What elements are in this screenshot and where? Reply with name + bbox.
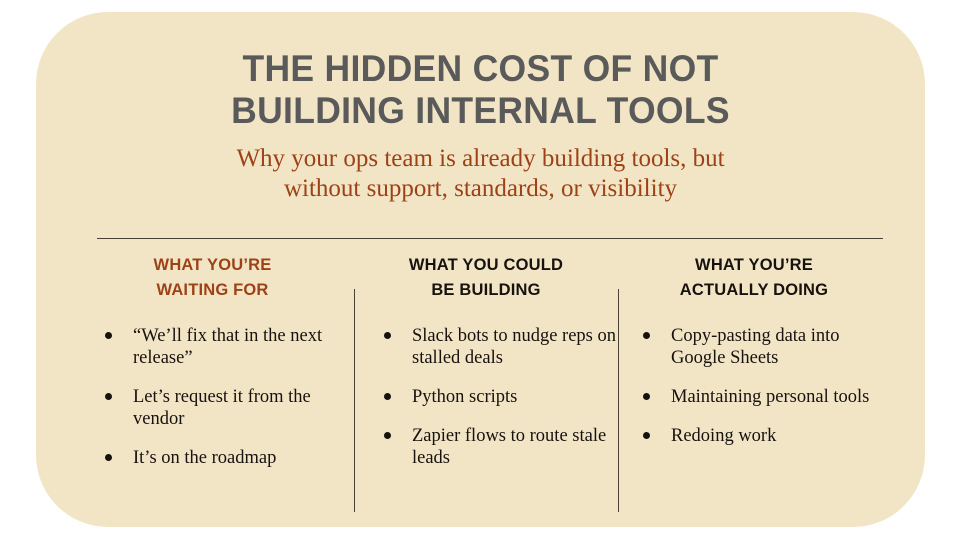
column-actually-doing: WHAT YOU’RE ACTUALLY DOING Copy-pasting … (618, 252, 890, 512)
page-title: THE HIDDEN COST OF NOT BUILDING INTERNAL… (54, 48, 907, 132)
list-item: Python scripts (354, 386, 618, 408)
list-item-text: “We’ll fix that in the next release” (133, 325, 354, 369)
bullet-list-waiting-for: “We’ll fix that in the next release” Let… (69, 325, 354, 469)
list-item: Redoing work (618, 425, 890, 447)
bullet-dot-icon (643, 432, 650, 439)
header-block: THE HIDDEN COST OF NOT BUILDING INTERNAL… (36, 48, 925, 204)
bullet-dot-icon (643, 393, 650, 400)
list-item-text: Let’s request it from the vendor (133, 386, 354, 430)
column-could-be-building: WHAT YOU COULD BE BUILDING Slack bots to… (354, 252, 618, 512)
bullet-list-actually-doing: Copy-pasting data into Google Sheets Mai… (618, 325, 890, 447)
header-divider (97, 238, 883, 239)
bullet-dot-icon (384, 393, 391, 400)
bullet-dot-icon (105, 393, 112, 400)
bullet-dot-icon (384, 332, 391, 339)
list-item: “We’ll fix that in the next release” (69, 325, 354, 369)
list-item: It’s on the roadmap (69, 447, 354, 469)
column-heading-waiting-for: WHAT YOU’RE WAITING FOR (75, 252, 350, 302)
slide-canvas: THE HIDDEN COST OF NOT BUILDING INTERNAL… (0, 0, 960, 540)
columns-container: WHAT YOU’RE WAITING FOR “We’ll fix that … (36, 252, 925, 512)
list-item-text: Redoing work (671, 425, 890, 447)
list-item-text: Copy-pasting data into Google Sheets (671, 325, 890, 369)
list-item: Maintaining personal tools (618, 386, 890, 408)
bullet-dot-icon (105, 454, 112, 461)
column-heading-actually-doing: WHAT YOU’RE ACTUALLY DOING (622, 252, 886, 302)
list-item-text: It’s on the roadmap (133, 447, 354, 469)
list-item: Slack bots to nudge reps on stalled deal… (354, 325, 618, 369)
bullet-list-could-be-building: Slack bots to nudge reps on stalled deal… (354, 325, 618, 469)
column-waiting-for: WHAT YOU’RE WAITING FOR “We’ll fix that … (71, 252, 354, 512)
bullet-dot-icon (643, 332, 650, 339)
list-item-text: Slack bots to nudge reps on stalled deal… (412, 325, 618, 369)
page-subtitle: Why your ops team is already building to… (36, 144, 925, 204)
list-item-text: Python scripts (412, 386, 618, 408)
list-item: Copy-pasting data into Google Sheets (618, 325, 890, 369)
content-card: THE HIDDEN COST OF NOT BUILDING INTERNAL… (36, 12, 925, 527)
list-item: Zapier flows to route stale leads (354, 425, 618, 469)
list-item-text: Zapier flows to route stale leads (412, 425, 618, 469)
bullet-dot-icon (384, 432, 391, 439)
column-heading-could-be-building: WHAT YOU COULD BE BUILDING (358, 252, 614, 302)
list-item: Let’s request it from the vendor (69, 386, 354, 430)
list-item-text: Maintaining personal tools (671, 386, 890, 408)
bullet-dot-icon (105, 332, 112, 339)
